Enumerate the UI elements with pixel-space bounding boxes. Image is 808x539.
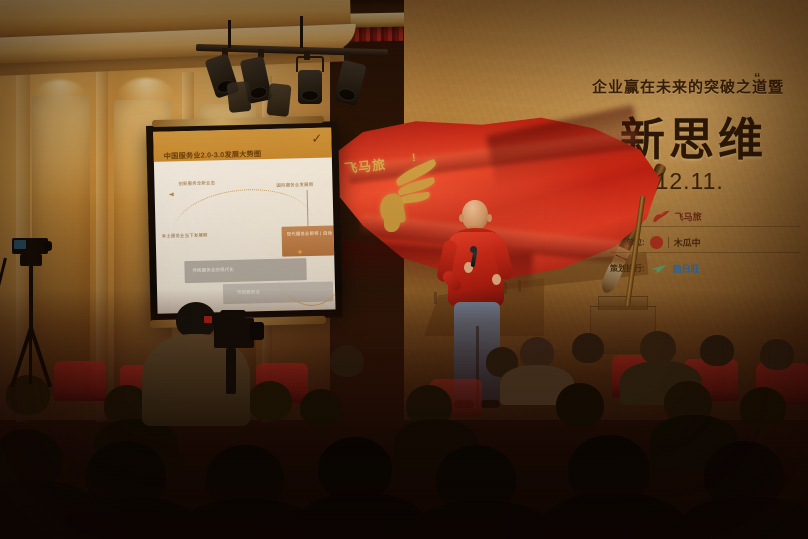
- theater-seat: [54, 361, 106, 401]
- projection-screen: ✓ 中国服务业2.0-3.0发展大势图 创新服务全新业态 本土服务业当下发展期 …: [153, 127, 335, 313]
- audience-head: [740, 387, 786, 429]
- light-lens: [337, 87, 357, 103]
- audience-shoulders: [678, 497, 808, 539]
- stage-light-par-3: [298, 70, 322, 104]
- camera-tally-tag: [204, 316, 212, 323]
- tripod-head: [20, 254, 42, 266]
- slide-label-innovation: 创新服务全新业态: [178, 180, 215, 187]
- camera-flip-screen: [14, 240, 26, 249]
- credit-value-host: 飞马旅: [675, 210, 702, 223]
- camcorder-handle: [220, 310, 246, 318]
- speaker-ear: [487, 214, 492, 222]
- slide-title: 中国服务业2.0-3.0发展大势图: [164, 149, 262, 161]
- speaker-ear: [459, 214, 464, 222]
- camcorder-lens: [250, 322, 264, 340]
- check-mark-icon: ✓: [311, 133, 327, 144]
- camera-lens: [44, 241, 52, 251]
- microphone-head: [470, 246, 477, 253]
- slide-label-local: 本土服务业当下发展期: [162, 233, 208, 240]
- slide-label-modernization: 传统服务业的现代化: [192, 267, 233, 274]
- audience-head: [640, 331, 676, 364]
- slide-label-international: 国际服务业发展期: [276, 182, 313, 189]
- light-lens: [301, 90, 319, 101]
- light-lens: [249, 85, 269, 100]
- speaker-hand-right: [492, 274, 501, 285]
- audience-area: [0, 289, 808, 539]
- audience-head: [760, 339, 794, 370]
- camcorder-body: [214, 318, 254, 348]
- audience-head: [572, 333, 604, 363]
- credit-separator: [668, 237, 669, 248]
- stage-light-par-6: [266, 83, 291, 117]
- truss-drop-wire: [300, 16, 303, 48]
- audience-shoulders: [412, 501, 552, 539]
- audience-shoulders: [542, 493, 686, 539]
- audience-head: [318, 437, 392, 501]
- audience-head: [556, 383, 604, 427]
- audience-head: [330, 345, 364, 377]
- credit-value-coorg: 木瓜中: [674, 236, 701, 249]
- conference-photo-scene: 企业赢在未来的突破之道暨 “ 新思维 2012.11. 主办单位: 飞马旅 协办…: [0, 0, 808, 539]
- camcorder-monopod: [226, 348, 236, 394]
- audience-head: [700, 335, 734, 366]
- flag-exclaim: !: [411, 152, 417, 164]
- stage-light-par-5: [226, 81, 251, 113]
- audience-shoulders: [296, 493, 426, 539]
- audience-head: [248, 381, 292, 421]
- credit-value-exec: 励日旺: [673, 262, 700, 275]
- arrow-left-icon: [169, 192, 174, 196]
- tripod-column: [29, 266, 33, 332]
- quote-mark: “: [754, 70, 761, 85]
- tripod-leg: [29, 328, 32, 384]
- horse-neck: [384, 214, 400, 232]
- audience-head: [300, 389, 342, 427]
- truss-drop-wire: [228, 20, 231, 48]
